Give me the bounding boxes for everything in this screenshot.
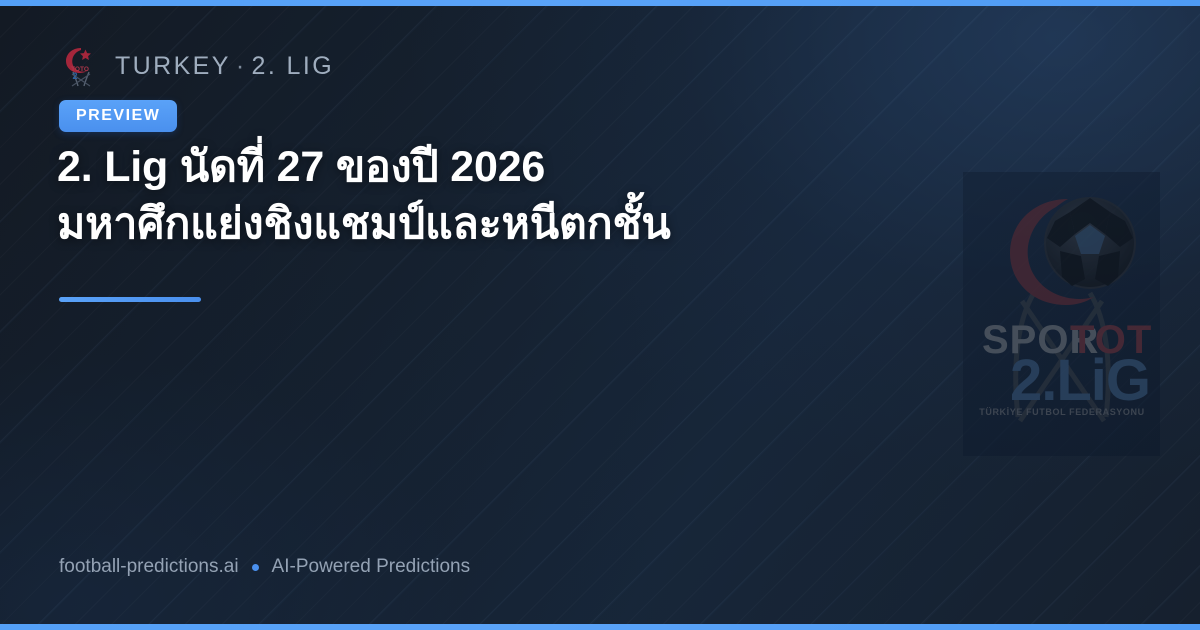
league-logo-panel: SPOR TOTO 2.LiG TÜRKİYE FUTBOL FEDERASYO… [963,172,1160,456]
spor-toto-2-lig-logo: SPOR TOTO 2.LiG TÜRKİYE FUTBOL FEDERASYO… [972,185,1152,443]
status-badge-label: PREVIEW [76,107,160,125]
preview-card: TOTO 2 TURKEY·2. LIG PREVIEW 2. Lig นัดท… [0,0,1200,630]
bullet-dot-icon [252,564,259,571]
footer: football-predictions.ai AI-Powered Predi… [59,556,470,578]
page-title: 2. Lig นัดที่ 27 ของปี 2026 มหาศึกแย่งชิ… [57,139,917,253]
league-separator: · [231,52,252,80]
league-header: TOTO 2 TURKEY·2. LIG [59,44,334,88]
league-competition: 2. LIG [252,52,335,80]
logo-tier: 2.LiG [1010,348,1150,413]
card-content: TOTO 2 TURKEY·2. LIG PREVIEW 2. Lig นัดท… [0,0,1200,630]
logo-subtitle: TÜRKİYE FUTBOL FEDERASYONU [979,407,1144,417]
headline-line-2: มหาศึกแย่งชิงแชมป์และหนีตกชั้น [57,196,917,253]
league-title: TURKEY·2. LIG [115,52,334,81]
status-badge: PREVIEW [59,100,177,132]
footer-site-name: football-predictions.ai [59,556,239,578]
league-country: TURKEY [115,52,231,80]
headline-line-1: 2. Lig นัดที่ 27 ของปี 2026 [57,139,917,196]
svg-text:2: 2 [72,71,77,81]
spor-toto-2-lig-crest-icon: TOTO 2 [59,44,101,88]
accent-divider [59,297,201,302]
footer-tagline: AI-Powered Predictions [272,556,471,578]
